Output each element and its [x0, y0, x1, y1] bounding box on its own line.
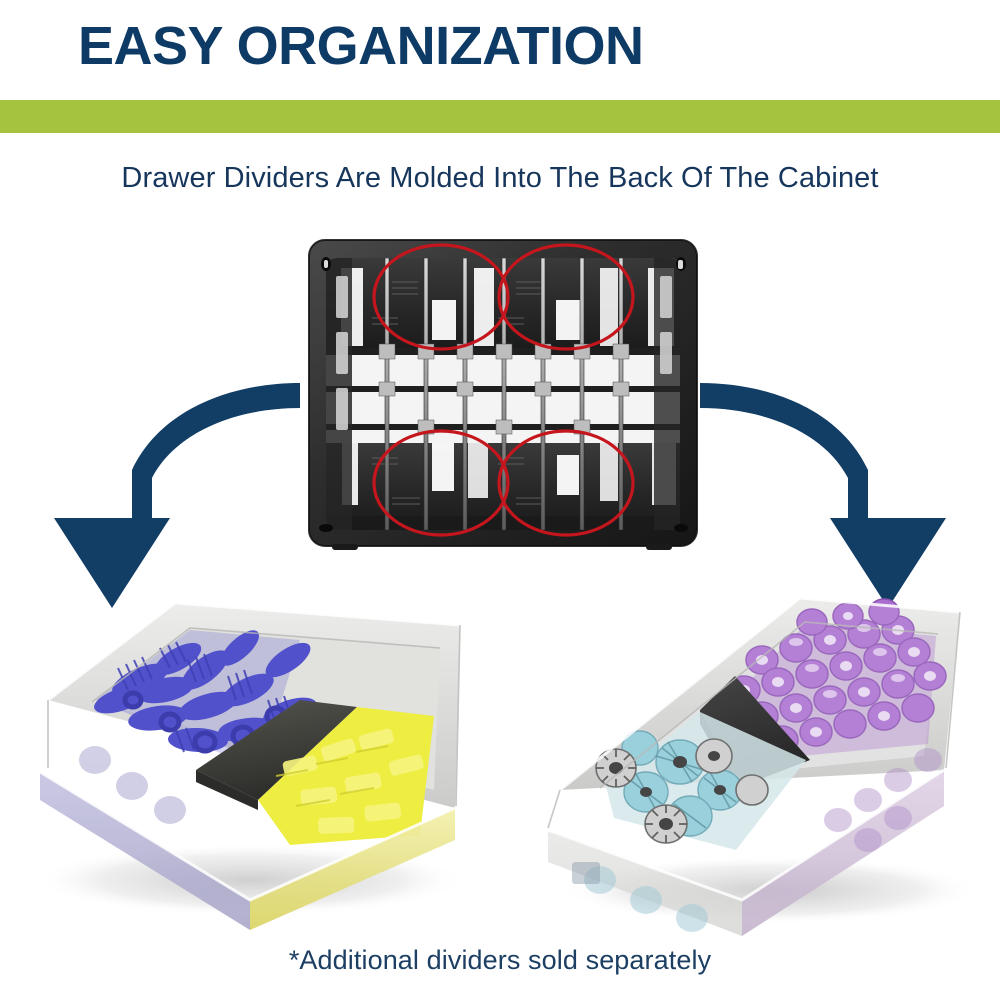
divider-highlight-circles — [374, 245, 633, 535]
storage-bin-purple-teal — [548, 598, 980, 936]
bin-left-divider — [196, 700, 357, 800]
bin-right-plastic-sheen — [548, 598, 960, 900]
bin-left-outer-wall — [48, 603, 460, 808]
cabinet-back-panel — [309, 240, 697, 550]
bin-left-plastic-sheen — [40, 603, 460, 900]
cabinet-frame — [309, 240, 697, 546]
cabinet-interior — [326, 258, 680, 530]
blue-parts-group — [91, 625, 320, 770]
molded-divider-band-top — [326, 258, 680, 354]
page-title: EASY ORGANIZATION — [78, 18, 644, 75]
bin-shadow-left — [35, 844, 465, 916]
infographic-page: EASY ORGANIZATION Drawer Dividers Are Mo… — [0, 0, 1000, 1000]
storage-bin-blue-yellow — [35, 603, 465, 930]
illustration-stage — [0, 0, 1000, 1000]
curved-arrow-right — [700, 383, 946, 608]
curved-arrow-left — [54, 383, 300, 608]
bin-left-front-panel — [40, 772, 455, 930]
bin-right-cavity — [600, 622, 938, 788]
purple-beads-group — [728, 599, 946, 756]
cabinet-shelf-rails — [326, 348, 680, 430]
subtitle: Drawer Dividers Are Molded Into The Back… — [0, 162, 1000, 195]
highlight-ellipse-top-right — [499, 245, 633, 349]
bin-right-outer-wall — [560, 598, 960, 790]
teal-beads-group — [596, 712, 806, 850]
highlight-ellipse-bottom-left — [374, 431, 508, 535]
yellow-parts-group — [258, 707, 434, 845]
cabinet-mounting-holes — [319, 257, 688, 532]
footnote-text: *Additional dividers sold separately — [0, 945, 1000, 976]
bin-left-cavity — [92, 628, 440, 790]
bin-right-front-panel — [548, 770, 944, 936]
cabinet-foot-tabs — [332, 544, 672, 550]
bin-shadow-right — [560, 856, 980, 924]
highlight-ellipse-bottom-right — [499, 431, 633, 535]
bin-right-divider — [700, 676, 810, 786]
molded-divider-band-bottom — [326, 443, 680, 530]
green-divider-rule — [0, 100, 1000, 133]
cabinet-vertical-ribs — [385, 258, 623, 530]
highlight-ellipse-top-left — [374, 245, 508, 349]
